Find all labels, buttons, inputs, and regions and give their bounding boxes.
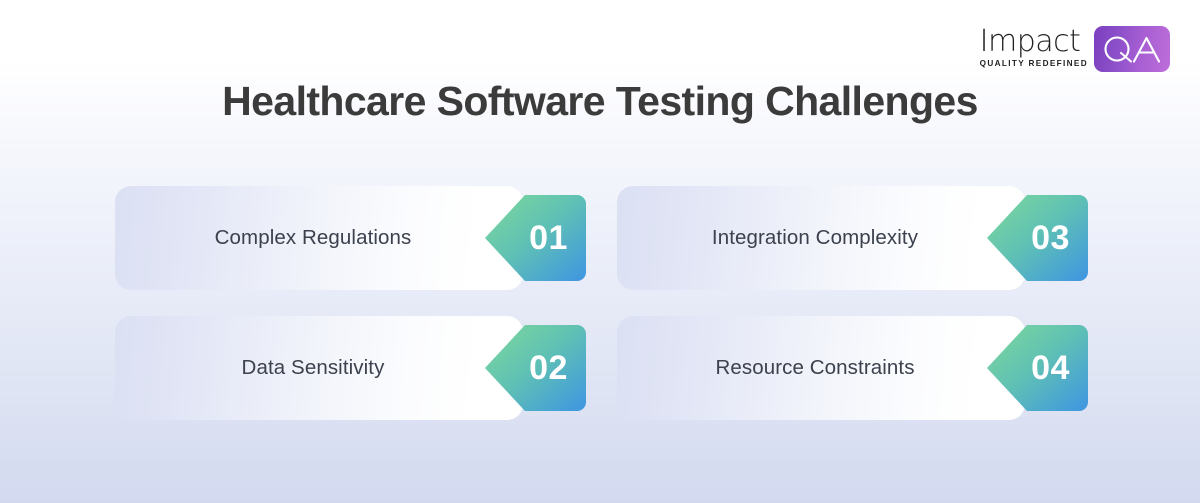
challenge-card[interactable]: Complex Regulations 01 [115,186,585,290]
page-title: Healthcare Software Testing Challenges [0,78,1200,125]
card-number-badge: 03 [987,195,1088,281]
card-number: 02 [485,325,586,411]
logo-tagline: QUALITY REDEFINED [980,60,1088,68]
logo-wordmark: Impact QUALITY REDEFINED [980,27,1088,70]
card-label: Complex Regulations [115,186,511,290]
logo-name: Impact [980,27,1081,57]
card-number: 04 [987,325,1088,411]
infographic-canvas: Impact QUALITY REDEFINED Healthcare Soft… [0,0,1200,503]
challenge-card-grid: Complex Regulations 01 Integrati [115,186,1087,420]
card-number-badge: 04 [987,325,1088,411]
challenge-card[interactable]: Data Sensitivity 02 [115,316,585,420]
card-number-badge: 01 [485,195,586,281]
card-number: 03 [987,195,1088,281]
card-number-badge: 02 [485,325,586,411]
card-label: Integration Complexity [617,186,1013,290]
brand-logo: Impact QUALITY REDEFINED [980,26,1170,72]
challenge-card[interactable]: Resource Constraints 04 [617,316,1087,420]
card-number: 01 [485,195,586,281]
qa-badge-icon [1094,26,1170,72]
card-label: Data Sensitivity [115,316,511,420]
card-label: Resource Constraints [617,316,1013,420]
challenge-card[interactable]: Integration Complexity 03 [617,186,1087,290]
